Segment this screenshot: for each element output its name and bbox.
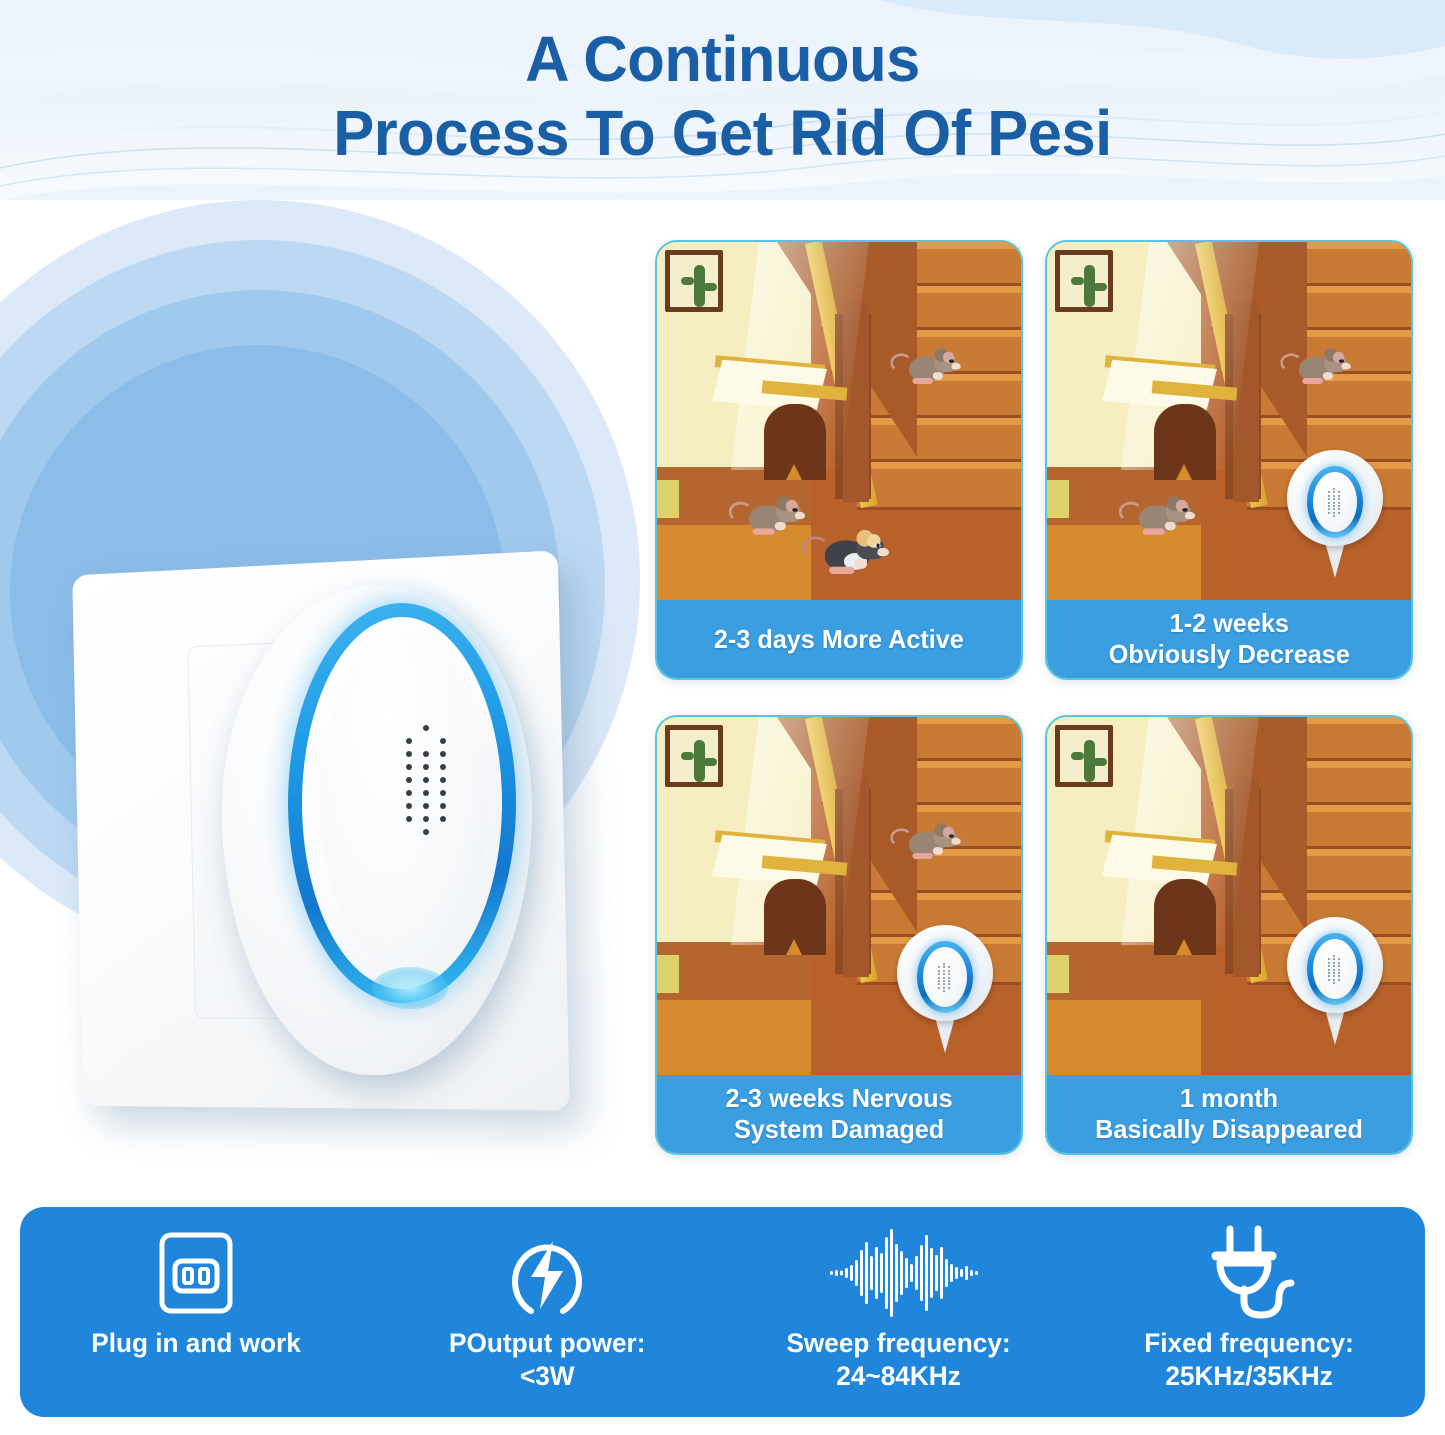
card-caption-text: 2-3 days More Active (714, 624, 964, 655)
sound-wave-icon (818, 1225, 978, 1321)
feature-sweep-frequency: Sweep frequency: 24~84KHz (723, 1207, 1074, 1417)
repeller-map-pin-icon (1287, 917, 1383, 1045)
wall-swatch (1047, 955, 1069, 993)
stair-step (857, 462, 1021, 510)
cactus-picture-frame (665, 725, 723, 787)
feature-label: Plug in and work (91, 1327, 301, 1360)
mouse-hole (1154, 879, 1216, 955)
process-card-grid: 2-3 days More Active (655, 240, 1415, 1155)
card-scene-illustration (657, 242, 1021, 604)
card-scene-illustration (1047, 242, 1411, 604)
plug-icon (1199, 1225, 1299, 1321)
wall-swatch (657, 955, 679, 993)
cactus-arm-right (1093, 283, 1107, 291)
feature-spec-bar: Plug in and work POutput power: <3W Swee… (20, 1207, 1425, 1417)
process-card[interactable]: 1 month Basically Disappeared (1045, 715, 1413, 1155)
header-banner: A Continuous Process To Get Rid Of Pesi (0, 0, 1445, 200)
cactus-arm-right (703, 758, 717, 766)
feature-output-power: POutput power: <3W (371, 1207, 722, 1417)
title-line-1: A Continuous (29, 22, 1416, 96)
mouse-hole (764, 879, 826, 955)
feature-label: POutput power: <3W (449, 1327, 645, 1393)
card-caption: 2-3 days More Active (657, 600, 1021, 678)
card-caption-text: 1-2 weeks Obviously Decrease (1108, 608, 1349, 670)
feature-plug-in-and-work: Plug in and work (20, 1207, 371, 1417)
cactus-arm-left (681, 752, 694, 760)
cactus-arm-right (1093, 758, 1107, 766)
mouse-hole (1154, 404, 1216, 480)
card-caption: 1 month Basically Disappeared (1047, 1075, 1411, 1153)
process-card[interactable]: 2-3 weeks Nervous System Damaged (655, 715, 1023, 1155)
cactus-arm-left (1071, 277, 1084, 285)
cactus-picture-frame (665, 250, 723, 312)
cactus-arm-left (1071, 752, 1084, 760)
cactus-picture-frame (1055, 250, 1113, 312)
feature-fixed-frequency: Fixed frequency: 25KHz/35KHz (1074, 1207, 1425, 1417)
led-glow-highlight (372, 967, 448, 1009)
repeller-map-pin-icon (897, 925, 993, 1053)
cactus-picture-frame (1055, 725, 1113, 787)
cactus-arm-right (703, 283, 717, 291)
outlet-icon (148, 1225, 244, 1321)
feature-label: Fixed frequency: 25KHz/35KHz (1145, 1327, 1355, 1393)
wall-swatch (1047, 480, 1069, 518)
wall-swatch (657, 480, 679, 518)
card-scene-illustration (657, 717, 1021, 1079)
feature-label: Sweep frequency: 24~84KHz (786, 1327, 1010, 1393)
card-caption: 2-3 weeks Nervous System Damaged (657, 1075, 1021, 1153)
power-bolt-icon (497, 1225, 597, 1321)
speaker-grid-icon (400, 725, 452, 843)
page-title: A Continuous Process To Get Rid Of Pesi (0, 22, 1445, 170)
cactus-arm-left (681, 277, 694, 285)
card-scene-illustration (1047, 717, 1411, 1079)
title-line-2: Process To Get Rid Of Pesi (29, 96, 1416, 170)
card-caption: 1-2 weeks Obviously Decrease (1047, 600, 1411, 678)
infographic-page: A Continuous Process To Get Rid Of Pesi (0, 0, 1445, 1435)
card-caption-text: 1 month Basically Disappeared (1095, 1083, 1363, 1145)
process-card[interactable]: 2-3 days More Active (655, 240, 1023, 680)
card-caption-text: 2-3 weeks Nervous System Damaged (725, 1083, 952, 1145)
process-card[interactable]: 1-2 weeks Obviously Decrease (1045, 240, 1413, 680)
product-image-panel (0, 185, 640, 1195)
mouse-hole (764, 404, 826, 480)
repeller-map-pin-icon (1287, 450, 1383, 578)
